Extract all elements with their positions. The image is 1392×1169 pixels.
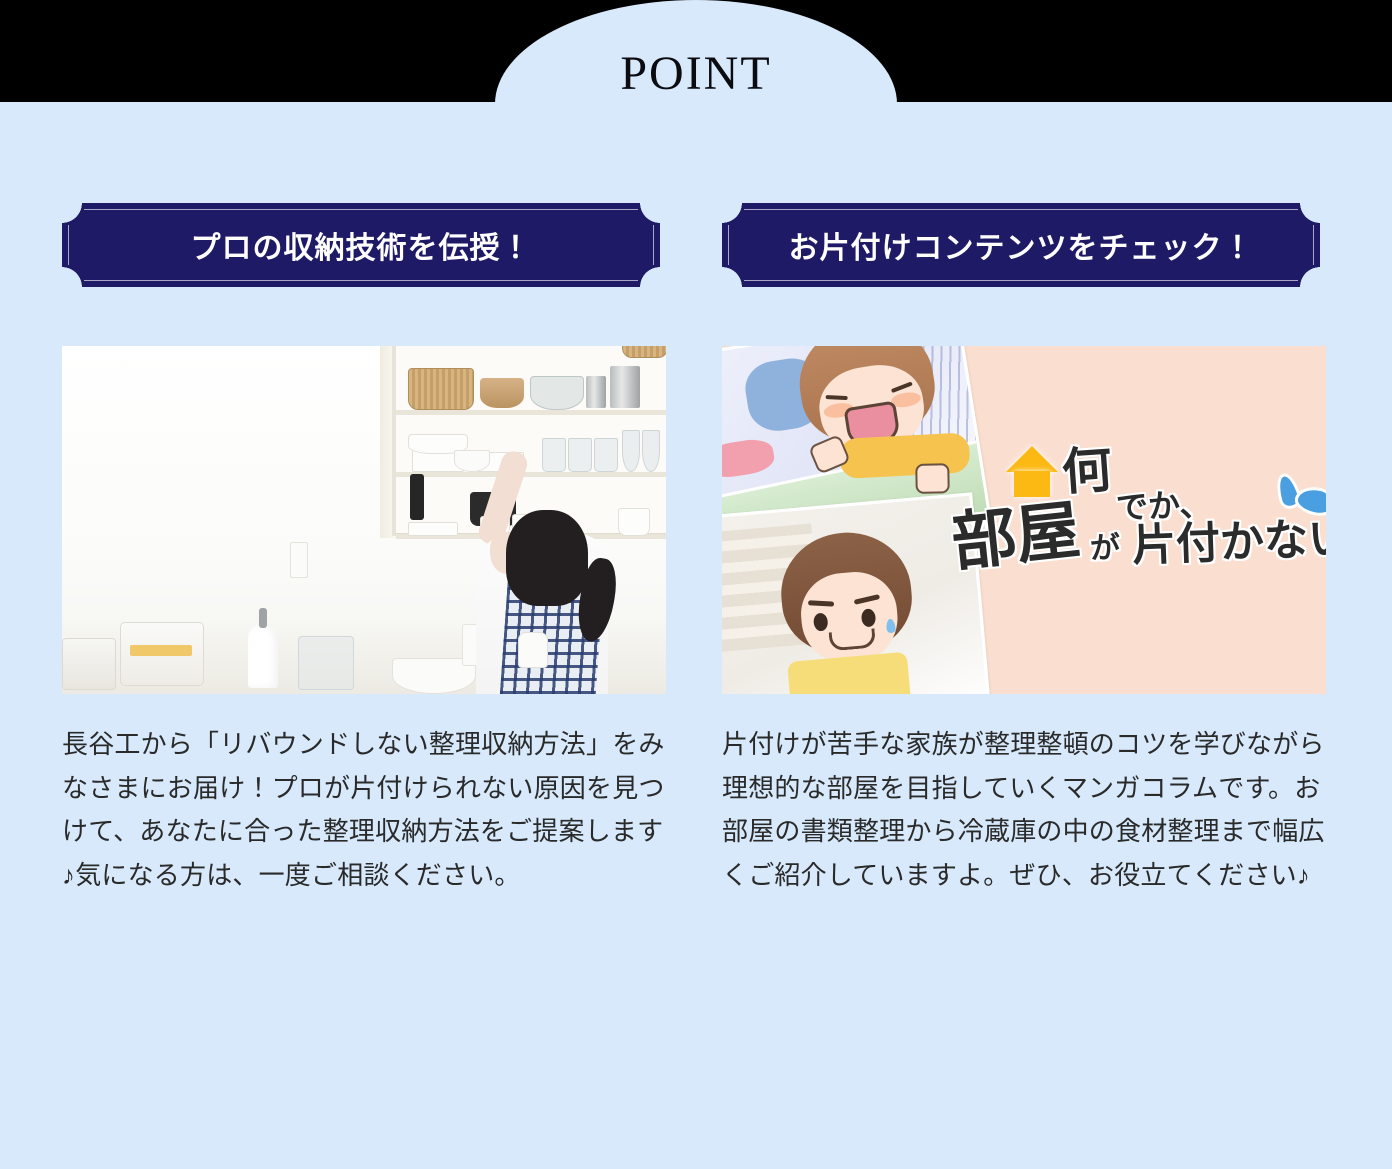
point-column-left: プロの収納技術を伝授！ <box>62 102 674 898</box>
page-title: POINT <box>495 0 897 104</box>
manga-column-banner[interactable]: 何 でか、 部屋 が 片付かない。 <box>722 346 1326 694</box>
dark-utensil <box>410 474 424 520</box>
manga-title-lockup: 何 でか、 部屋 が 片付かない。 <box>984 438 1314 588</box>
manga-title-line-3: 部屋 <box>949 497 1083 574</box>
sweat-drop-icon-1 <box>1276 474 1300 507</box>
held-cup <box>518 632 548 668</box>
column-right-badge: お片付けコンテンツをチェック！ <box>722 203 1320 287</box>
woman-hair <box>506 510 588 606</box>
house-icon-body <box>1014 471 1050 497</box>
drinking-glass-1 <box>542 438 566 472</box>
wine-flute-1 <box>622 430 640 472</box>
point-column-right: お片付けコンテンツをチェック！ <box>722 102 1334 898</box>
cabinet-shelf-1 <box>396 410 666 415</box>
column-left-body-text: 長谷工から「リバウンドしない整理収納方法」をみなさまにお届け！プロが片付けられな… <box>62 723 666 898</box>
house-icon <box>1006 446 1058 472</box>
wall-switch <box>290 542 308 578</box>
wicker-basket <box>408 368 474 410</box>
point-columns: プロの収納技術を伝授！ <box>0 102 1392 1169</box>
cabinet-shelf-2 <box>396 472 666 477</box>
bowl-in-hand <box>454 450 490 472</box>
kitchen-photo-art <box>62 346 666 694</box>
drinking-glass-3 <box>594 438 618 472</box>
badge-label-right: お片付けコンテンツをチェック！ <box>722 203 1320 287</box>
glass-jar <box>298 636 354 690</box>
column-left-badge: プロの収納技術を伝授！ <box>62 203 660 287</box>
mug-4 <box>618 508 650 536</box>
column-right-body-text: 片付けが苦手な家族が整理整頓のコツを学びながら理想的な部屋を目指していくマンガコ… <box>722 723 1326 898</box>
child-hand-right <box>915 463 950 494</box>
metal-container <box>610 366 640 408</box>
child-arm <box>839 432 971 479</box>
paper-towel-roll <box>248 624 278 688</box>
rice-cooker <box>120 622 204 686</box>
manga-title-line-4: が <box>1089 533 1120 564</box>
manga-title-line-5: 片付かない。 <box>1131 515 1326 568</box>
manga-title-line-1: 何 <box>1060 444 1113 497</box>
drinking-glass-2 <box>568 438 592 472</box>
point-section: POINT プロの収納技術を伝授！ <box>0 0 1392 1169</box>
glass-bowl <box>530 376 584 410</box>
top-basket <box>622 346 666 358</box>
toaster-oven <box>62 638 116 690</box>
kitchen-organizing-photo[interactable] <box>62 346 666 694</box>
sweat-drop-icon-2 <box>1296 486 1326 516</box>
metal-container-small <box>586 376 606 408</box>
wine-flute-2 <box>642 430 660 472</box>
manga-banner-art: 何 でか、 部屋 が 片付かない。 <box>722 346 1326 694</box>
badge-label-left: プロの収納技術を伝授！ <box>62 203 660 287</box>
plate-stack-2 <box>408 522 458 536</box>
wood-bowl <box>480 378 524 408</box>
